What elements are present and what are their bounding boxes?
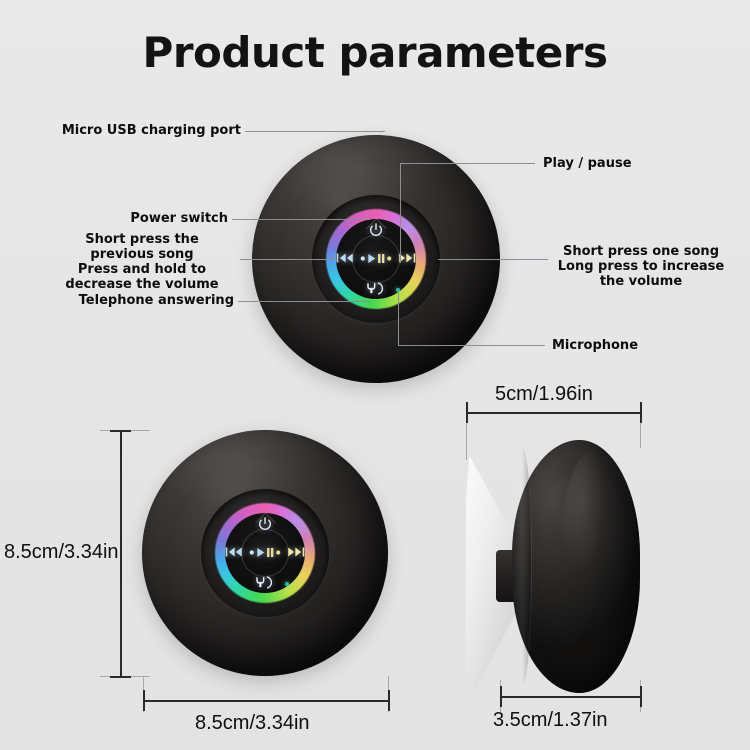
side-view-face-highlight <box>560 452 620 682</box>
dimension-line-front-height <box>120 430 122 676</box>
control-panel-bottom <box>201 489 329 617</box>
callout-telephone-answering: Telephone answering <box>56 293 234 308</box>
dimension-cap-side-left <box>466 402 468 423</box>
callout-next-song: Short press one song Long press to incre… <box>549 244 733 289</box>
leader-line-microphone-drop <box>398 293 399 345</box>
callout-power-switch: Power switch <box>80 211 228 226</box>
leader-line-previous-song <box>240 259 338 260</box>
side-view-rim-groove <box>513 448 532 684</box>
telephone-answer-icon[interactable] <box>255 575 275 590</box>
leader-line-telephone <box>238 301 370 302</box>
leader-line-play-pause <box>400 163 535 164</box>
dimension-label-front-height: 8.5cm/3.34in <box>4 541 119 564</box>
speaker-front-view-bottom <box>142 430 388 676</box>
microphone-dot-icon <box>285 582 289 586</box>
page-title: Product parameters <box>0 28 750 77</box>
dimension-cap-top <box>110 430 131 432</box>
dimension-line-front-width <box>143 700 388 702</box>
next-track-icon[interactable] <box>287 545 305 559</box>
callout-microphone: Microphone <box>552 338 692 353</box>
dimension-cap-side-right <box>640 402 642 423</box>
power-icon[interactable] <box>257 516 273 532</box>
leader-line-microphone <box>398 345 545 346</box>
dimension-line-side-depth <box>500 696 640 698</box>
dimension-cap-depth-right <box>640 686 642 707</box>
play-pause-icon[interactable] <box>360 252 392 265</box>
leader-line-power-switch <box>232 219 370 220</box>
leader-line-next-song <box>438 259 548 260</box>
telephone-answer-icon[interactable] <box>366 281 386 296</box>
leader-line-micro-usb <box>245 131 385 132</box>
previous-track-icon[interactable] <box>336 251 354 265</box>
dimension-cap-depth-left <box>500 686 502 707</box>
dimension-line-side-height <box>466 412 640 414</box>
callout-previous-song: Short press the previous song Press and … <box>48 232 236 292</box>
dimension-label-front-width: 8.5cm/3.34in <box>195 712 310 735</box>
dimension-cap-bottom <box>110 676 131 678</box>
callout-play-pause: Play / pause <box>543 156 693 171</box>
product-parameters-diagram: Product parameters <box>0 0 750 750</box>
dimension-cap-right <box>388 690 390 711</box>
dimension-cap-left <box>143 690 145 711</box>
play-pause-icon[interactable] <box>249 546 281 559</box>
leader-line-play-pause-drop <box>400 163 401 263</box>
power-icon[interactable] <box>368 222 384 238</box>
microphone-dot-icon <box>396 288 400 292</box>
dimension-label-side-depth: 3.5cm/1.37in <box>493 709 608 732</box>
previous-track-icon[interactable] <box>225 545 243 559</box>
dimension-label-side-height: 5cm/1.96in <box>495 383 593 406</box>
callout-micro-usb: Micro USB charging port <box>45 123 241 138</box>
